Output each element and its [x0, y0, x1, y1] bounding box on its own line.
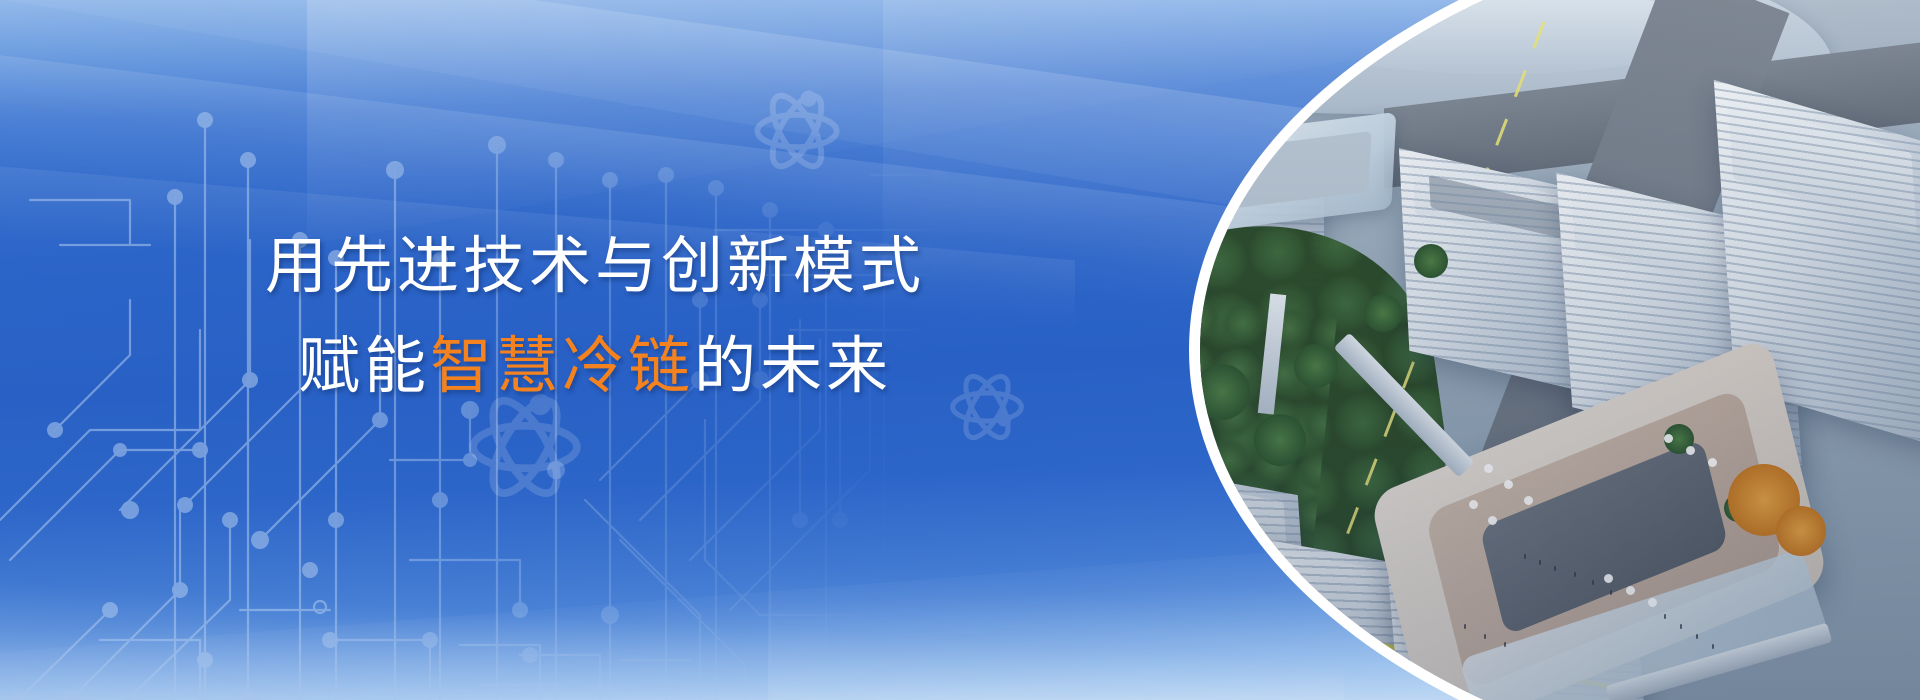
atom-icon-middle [466, 388, 584, 506]
headline-block: 用先进技术与创新模式 赋能智慧冷链的未来 [0, 236, 1190, 398]
photo-umbrella [1286, 606, 1295, 615]
headline-line-2: 赋能智慧冷链的未来 [0, 336, 1190, 398]
hero-banner: 用先进技术与创新模式 赋能智慧冷链的未来 [0, 0, 1920, 700]
photo-tree [1094, 434, 1154, 494]
headline-line-2-prefix: 赋能 [298, 332, 430, 401]
headline-line-1: 用先进技术与创新模式 [0, 236, 1190, 298]
headline-highlight: 智慧冷链 [430, 332, 694, 401]
photo-umbrella [1264, 594, 1273, 603]
headline-line-2-suffix: 的未来 [694, 332, 892, 401]
atom-icon-top [752, 86, 842, 176]
photo-tree [994, 444, 1044, 494]
